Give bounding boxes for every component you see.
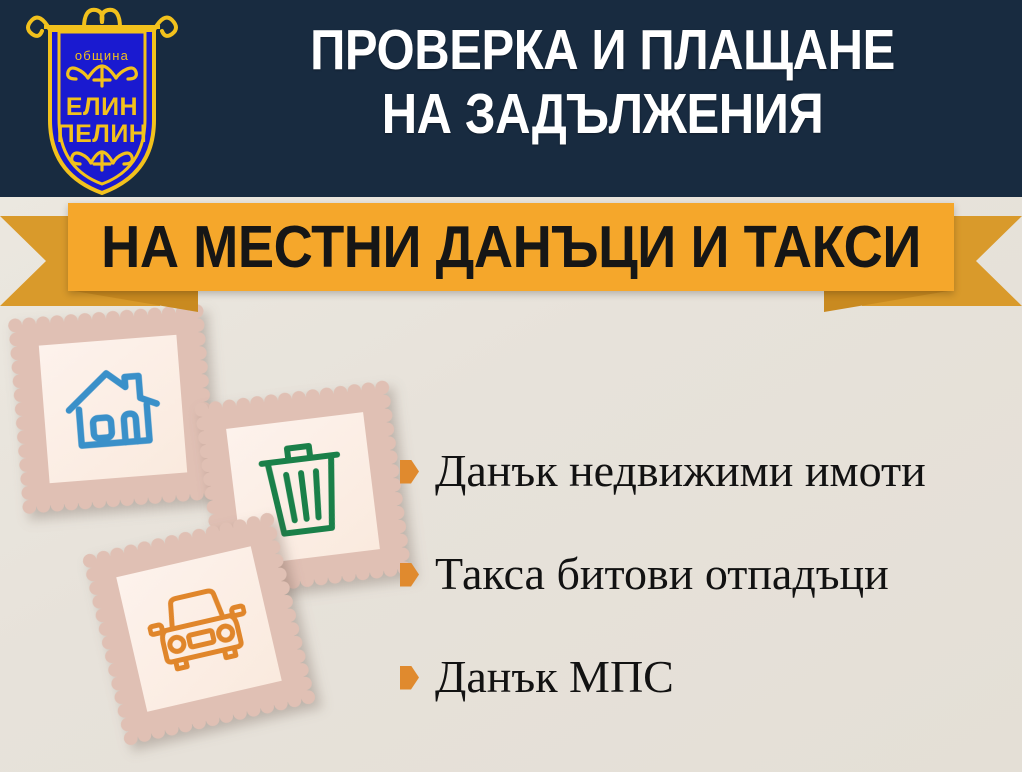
stamp-inner-vehicle	[116, 546, 282, 712]
arrow-bullet-icon	[400, 666, 419, 690]
car-icon	[141, 579, 256, 679]
list-item[interactable]: Данък МПС	[400, 626, 1012, 729]
list-item[interactable]: Данък недвижими имоти	[400, 420, 1012, 523]
municipality-logo: община ЕЛИН ПЕЛИН	[22, 2, 182, 202]
ribbon-banner: НА МЕСТНИ ДАНЪЦИ И ТАКСИ	[0, 196, 1022, 314]
list-item-label: Такса битови отпадъци	[435, 550, 889, 598]
logo-obshtina-label: община	[75, 48, 129, 63]
arrow-bullet-icon	[400, 460, 419, 484]
page-title-line-2: НА ЗАДЪЛЖЕНИЯ	[252, 82, 953, 146]
logo-name-line-1: ЕЛИН	[66, 93, 138, 121]
list-item[interactable]: Такса битови отпадъци	[400, 523, 1012, 626]
ribbon-subtitle: НА МЕСТНИ ДАНЪЦИ И ТАКСИ	[103, 203, 918, 291]
stamp-card-vehicle	[90, 520, 308, 738]
logo-name-line-2: ПЕЛИН	[57, 120, 148, 148]
poster-canvas: ПРОВЕРКА И ПЛАЩАНЕ НА ЗАДЪЛЖЕНИЯ община	[0, 0, 1022, 772]
stamp-inner-property	[39, 335, 187, 483]
stamp-card-property	[15, 311, 211, 507]
arrow-bullet-icon	[400, 563, 419, 587]
coat-of-arms-icon: община ЕЛИН ПЕЛИН	[22, 2, 182, 202]
house-icon	[62, 359, 165, 458]
list-item-label: Данък недвижими имоти	[435, 447, 926, 495]
page-title-line-1: ПРОВЕРКА И ПЛАЩАНЕ	[252, 18, 953, 82]
list-item-label: Данък МПС	[435, 653, 674, 701]
tax-type-list: Данък недвижими имоти Такса битови отпад…	[400, 420, 1012, 729]
page-title: ПРОВЕРКА И ПЛАЩАНЕ НА ЗАДЪЛЖЕНИЯ	[252, 18, 953, 147]
